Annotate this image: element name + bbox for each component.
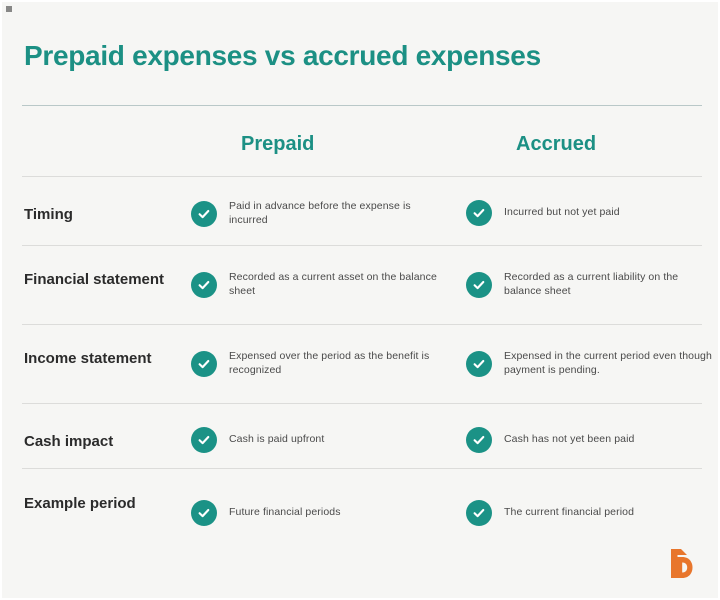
page-title: Prepaid expenses vs accrued expenses xyxy=(24,40,541,72)
cell-text: Incurred but not yet paid xyxy=(504,206,620,220)
table-row: Financial statement Recorded as a curren… xyxy=(22,257,702,317)
row-separator xyxy=(22,176,702,177)
row-label: Income statement xyxy=(24,349,184,368)
check-icon xyxy=(191,201,217,227)
table-row: Cash impact Cash is paid upfront Cash ha… xyxy=(22,415,702,465)
row-label: Example period xyxy=(24,494,184,513)
cell-text: Recorded as a current asset on the balan… xyxy=(229,271,446,298)
check-icon xyxy=(466,272,492,298)
cell-text: Future financial periods xyxy=(229,506,341,520)
cell-text: Paid in advance before the expense is in… xyxy=(229,200,446,227)
check-icon xyxy=(466,200,492,226)
check-icon xyxy=(191,427,217,453)
cell-prepaid: Paid in advance before the expense is in… xyxy=(191,200,446,227)
check-icon xyxy=(191,500,217,526)
cell-accrued: Recorded as a current liability on the b… xyxy=(466,271,716,298)
cell-accrued: Cash has not yet been paid xyxy=(466,427,716,453)
row-label: Cash impact xyxy=(24,432,184,451)
table-row: Timing Paid in advance before the expens… xyxy=(22,188,702,238)
cell-prepaid: Future financial periods xyxy=(191,500,446,526)
row-separator xyxy=(22,403,702,404)
row-label: Timing xyxy=(24,205,184,224)
cell-prepaid: Expensed over the period as the benefit … xyxy=(191,350,446,377)
cell-accrued: The current financial period xyxy=(466,500,716,526)
check-icon xyxy=(191,272,217,298)
cell-prepaid: Cash is paid upfront xyxy=(191,427,446,453)
row-separator xyxy=(22,245,702,246)
cell-text: Recorded as a current liability on the b… xyxy=(504,271,716,298)
row-separator xyxy=(22,468,702,469)
comparison-card: Prepaid expenses vs accrued expenses Pre… xyxy=(2,2,718,598)
check-icon xyxy=(466,427,492,453)
cell-accrued: Incurred but not yet paid xyxy=(466,200,716,226)
row-label: Financial statement xyxy=(24,270,184,289)
cell-text: The current financial period xyxy=(504,506,634,520)
check-icon xyxy=(466,351,492,377)
cell-text: Cash has not yet been paid xyxy=(504,433,634,447)
brand-b-logo xyxy=(668,548,694,578)
column-header-prepaid: Prepaid xyxy=(241,133,314,156)
cell-text: Cash is paid upfront xyxy=(229,433,324,447)
table-row: Income statement Expensed over the perio… xyxy=(22,336,702,396)
cell-prepaid: Recorded as a current asset on the balan… xyxy=(191,271,446,298)
cell-text: Expensed in the current period even thou… xyxy=(504,350,716,377)
row-separator xyxy=(22,324,702,325)
table-row: Example period Future financial periods … xyxy=(22,481,702,541)
column-header-accrued: Accrued xyxy=(516,133,596,156)
check-icon xyxy=(191,351,217,377)
title-divider xyxy=(22,105,702,106)
check-icon xyxy=(466,500,492,526)
cell-accrued: Expensed in the current period even thou… xyxy=(466,350,716,377)
corner-mark xyxy=(6,6,12,12)
cell-text: Expensed over the period as the benefit … xyxy=(229,350,446,377)
